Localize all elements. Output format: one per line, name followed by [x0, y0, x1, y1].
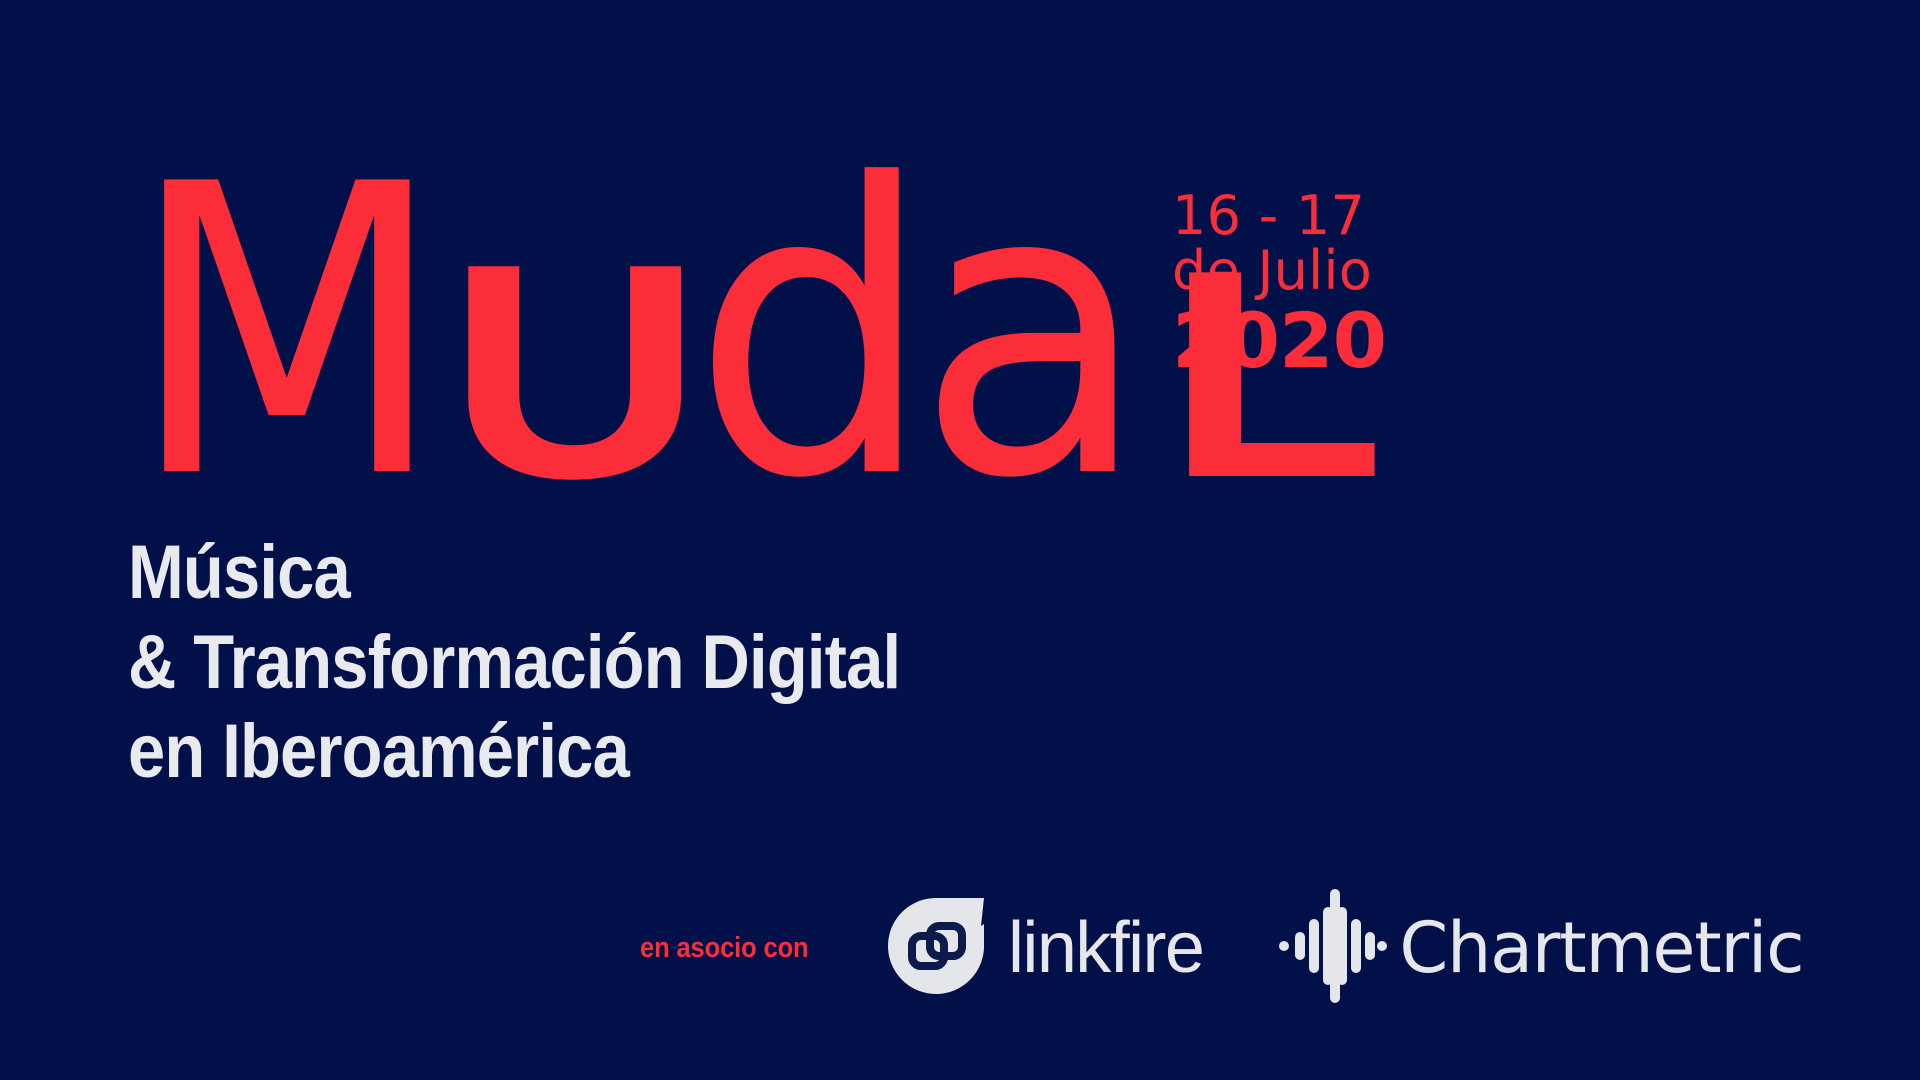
logotype-letter-m: M: [128, 178, 425, 490]
event-subtitle: Música & Transformación Digital en Ibero…: [128, 528, 1006, 797]
waveform-icon: [1279, 887, 1387, 1010]
logotype-letters-da: da: [692, 178, 1132, 490]
partners-footer: en asocio con linkfire: [640, 888, 1803, 1008]
subtitle-line-3: en Iberoamérica: [128, 707, 900, 797]
event-date-month: de Julio: [1172, 243, 1380, 298]
subtitle-line-2: & Transformación Digital: [128, 618, 900, 708]
event-date-range: 16 - 17: [1172, 188, 1380, 243]
partner-logo-chartmetric[interactable]: Chartmetric: [1279, 887, 1803, 1010]
event-logotype: M U da L: [128, 178, 1340, 490]
linkfire-droplet-icon: [884, 894, 988, 1003]
subtitle-line-1: Música: [128, 528, 900, 618]
association-label: en asocio con: [640, 932, 816, 965]
partner-name-linkfire: linkfire: [1008, 912, 1203, 984]
event-date-year: 2020: [1172, 303, 1386, 379]
partner-logo-linkfire[interactable]: linkfire: [884, 894, 1203, 1003]
event-poster: M U da L 16 - 17 de Julio 2020 Música & …: [0, 0, 1920, 1080]
event-date-block: 16 - 17 de Julio 2020: [1172, 188, 1380, 379]
logotype-letter-u: U: [447, 251, 696, 490]
partner-name-chartmetric: Chartmetric: [1399, 913, 1803, 983]
